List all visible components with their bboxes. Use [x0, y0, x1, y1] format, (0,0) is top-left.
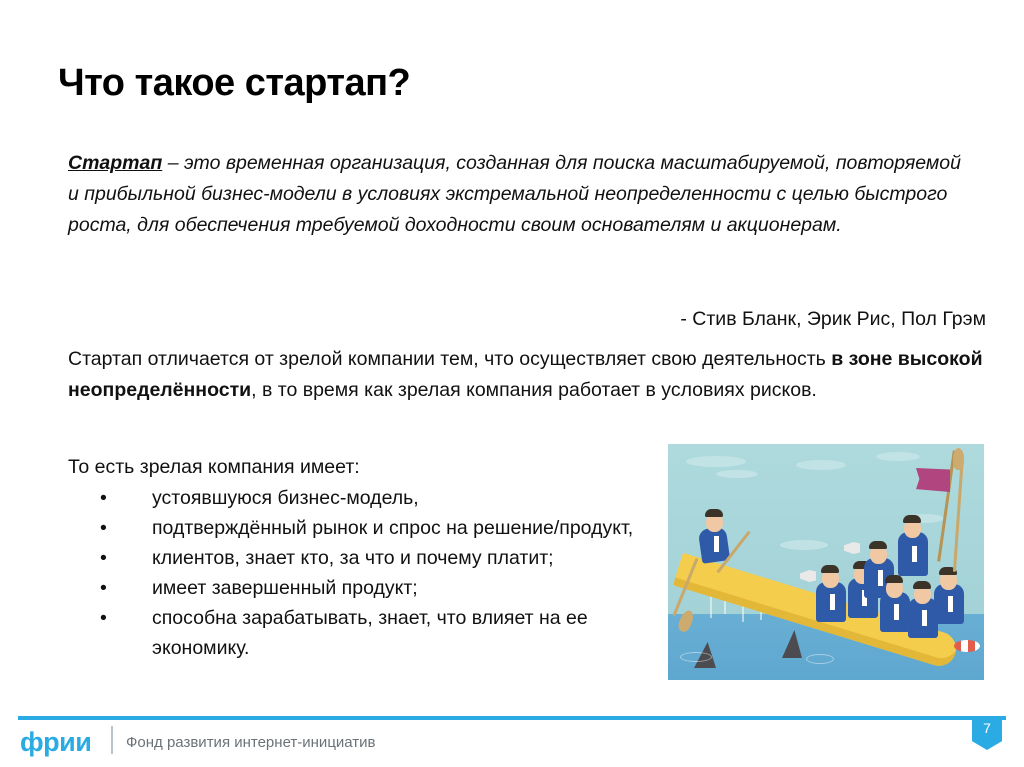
person-hair: [885, 575, 903, 583]
person-hair: [903, 515, 921, 523]
person-tie: [894, 604, 899, 620]
list-item: • подтверждённый рынок и спрос на решени…: [68, 513, 648, 543]
life-ring-icon: [954, 640, 980, 652]
page-number-badge: 7: [972, 716, 1002, 750]
bullet-list: • устоявшуюся бизнес-модель, • подтвержд…: [68, 483, 648, 663]
water-ripple: [680, 652, 712, 662]
list-item: • устоявшуюся бизнес-модель,: [68, 483, 648, 513]
body-paragraph: Стартап отличается от зрелой компании те…: [68, 344, 988, 406]
person-tie: [878, 570, 883, 586]
bullet-icon: •: [100, 483, 107, 513]
definition-text: – это временная организация, созданная д…: [68, 152, 961, 236]
cloud-icon: [686, 456, 746, 467]
boat-illustration: [668, 444, 984, 680]
oar-blade: [953, 448, 964, 470]
body-paragraph-part1: Стартап отличается от зрелой компании те…: [68, 348, 831, 370]
bullet-icon: •: [100, 603, 107, 633]
list-item: • способна зарабатывать, знает, что влия…: [68, 603, 648, 663]
person-tie: [714, 536, 719, 552]
list-item: • имеет завершенный продукт;: [68, 573, 648, 603]
list-item-label: способна зарабатывать, знает, что влияет…: [152, 607, 588, 659]
person-tie: [912, 546, 917, 562]
footer-separator: [111, 726, 113, 754]
person-tie: [948, 596, 953, 612]
bullet-icon: •: [100, 543, 107, 573]
cloud-icon: [876, 452, 920, 461]
frii-logo: фрии: [20, 727, 91, 757]
page-title: Что такое стартап?: [58, 62, 410, 105]
footer-divider: [18, 716, 1006, 720]
bullet-icon: •: [100, 513, 107, 543]
list-item-label: устоявшуюся бизнес-модель,: [152, 487, 419, 509]
definition-term: Стартап: [68, 152, 162, 174]
person-hair: [869, 541, 887, 549]
list-intro: То есть зрелая компания имеет:: [68, 452, 360, 482]
person-hair: [705, 509, 723, 517]
bullet-icon: •: [100, 573, 107, 603]
person-tie: [922, 610, 927, 626]
list-item-label: имеет завершенный продукт;: [152, 577, 418, 599]
cloud-icon: [716, 470, 758, 478]
list-item: • клиентов, знает кто, за что и почему п…: [68, 543, 648, 573]
cloud-icon: [780, 540, 828, 550]
list-item-label: клиентов, знает кто, за что и почему пла…: [152, 547, 554, 569]
flag-icon: [916, 468, 950, 492]
definition-paragraph: Стартап – это временная организация, соз…: [68, 148, 968, 241]
list-item-label: подтверждённый рынок и спрос на решение/…: [152, 517, 633, 539]
definition-attribution: - Стив Бланк, Эрик Рис, Пол Грэм: [68, 305, 986, 333]
footer-tagline: Фонд развития интернет-инициатив: [126, 733, 376, 753]
body-paragraph-part2: , в то время как зрелая компания работае…: [251, 379, 817, 401]
person-tie: [830, 594, 835, 610]
person-hair: [821, 565, 839, 573]
cloud-icon: [796, 460, 846, 470]
water-ripple: [806, 654, 834, 664]
person-hair: [913, 581, 931, 589]
slide: Что такое стартап? Стартап – это временн…: [0, 0, 1024, 767]
